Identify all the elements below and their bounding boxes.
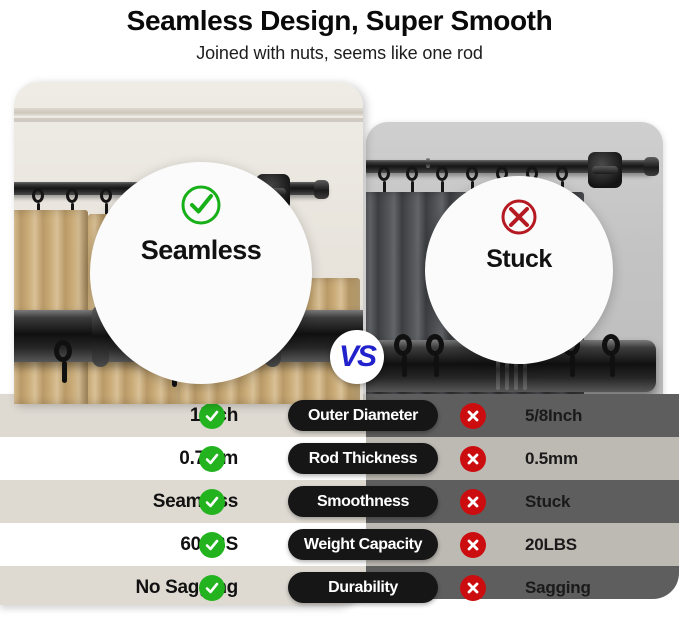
vs-badge: VS [330, 330, 384, 384]
product-curtain [14, 210, 88, 404]
check-mark-icon [199, 446, 225, 472]
competitor-value: 5/8Inch [525, 406, 582, 426]
curtain-hook [54, 340, 72, 362]
attribute-label: Outer Diameter [308, 407, 418, 425]
table-attribute-pill: Smoothness [288, 486, 438, 517]
callout-seamless: Seamless [90, 162, 312, 384]
attribute-label: Weight Capacity [304, 536, 422, 554]
curtain-ring [100, 188, 112, 203]
rod-end-cap-icon [644, 157, 659, 176]
attribute-label: Smoothness [317, 493, 409, 511]
competitor-value: Stuck [525, 492, 570, 512]
table-attribute-pill: Outer Diameter [288, 400, 438, 431]
check-mark-icon [199, 403, 225, 429]
check-mark-icon [199, 575, 225, 601]
curtain-ring [436, 166, 448, 181]
table-row: 60LBS Weight Capacity 20LBS [0, 523, 679, 566]
competitor-value: Sagging [525, 578, 591, 598]
header: Seamless Design, Super Smooth Joined wit… [0, 0, 679, 66]
page-title: Seamless Design, Super Smooth [0, 4, 679, 38]
competitor-value: 20LBS [525, 535, 577, 555]
table-attribute-pill: Weight Capacity [288, 529, 438, 560]
curtain-ring [32, 188, 44, 203]
curtain-ring [406, 166, 418, 181]
comparison-table: 1Inch Outer Diameter 5/8Inch 0.7mm Rod T… [0, 394, 679, 612]
rod-bracket-icon [588, 152, 622, 188]
rod-thread-mark [426, 158, 430, 168]
curtain-hook [602, 334, 620, 356]
table-row: No Sagging Durability Sagging [0, 566, 679, 609]
curtain-ring [556, 166, 568, 181]
curtain-ring [66, 188, 78, 203]
curtain-hook [426, 334, 444, 356]
callout-stuck: Stuck [425, 176, 613, 364]
table-attribute-pill: Durability [288, 572, 438, 603]
competitor-value: 0.5mm [525, 449, 578, 469]
wall-moulding [14, 108, 363, 116]
page-subtitle: Joined with nuts, seems like one rod [0, 40, 679, 66]
attribute-label: Durability [328, 579, 398, 597]
rod-end-cap-icon [314, 180, 329, 199]
check-circle-outline-icon [178, 182, 224, 233]
check-mark-icon [199, 532, 225, 558]
curtain-hook [394, 334, 412, 356]
callout-seamless-label: Seamless [141, 235, 262, 266]
callout-stuck-label: Stuck [486, 245, 552, 274]
vs-label: VS [339, 342, 375, 372]
curtain-ring [466, 166, 478, 181]
wall-moulding [14, 118, 363, 122]
product-value: Seamless [153, 491, 238, 513]
check-mark-icon [199, 489, 225, 515]
attribute-label: Rod Thickness [309, 450, 418, 468]
x-circle-outline-icon [498, 196, 540, 243]
curtain-ring [378, 166, 390, 181]
table-attribute-pill: Rod Thickness [288, 443, 438, 474]
table-row: Seamless Smoothness Stuck [0, 480, 679, 523]
table-row: 0.7mm Rod Thickness 0.5mm [0, 437, 679, 480]
